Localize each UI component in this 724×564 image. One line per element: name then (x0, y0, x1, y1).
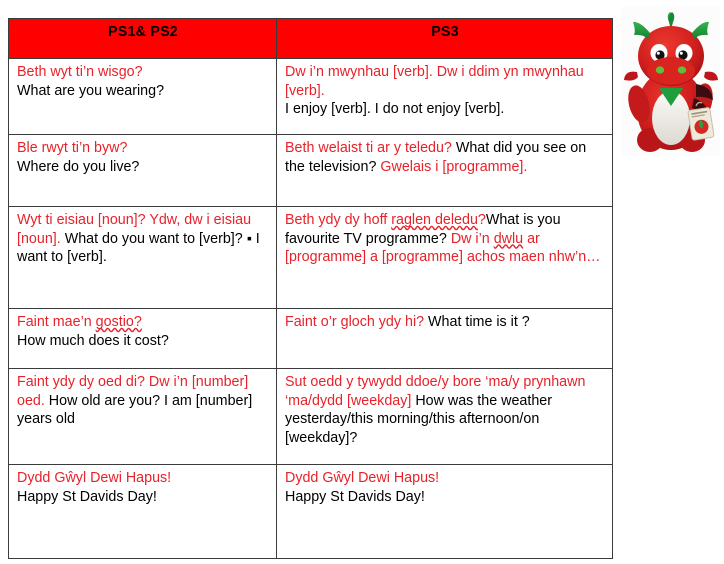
spellcheck-flagged-text: raglen deledu (391, 212, 478, 228)
welsh-phrase: Ble rwyt ti’n byw? (17, 139, 269, 158)
slide-canvas: PS1& PS2 PS3 Beth wyt ti’n wisgo? What a… (0, 0, 724, 564)
table-row: Faint ydy dy oed di? Dw i’n [number] oed… (9, 369, 613, 465)
phrase-cell-ps3-6: Dydd Gŵyl Dewi Hapus! Happy St Davids Da… (277, 465, 613, 559)
english-translation: What are you wearing? (17, 82, 269, 101)
welsh-phrases-table: PS1& PS2 PS3 Beth wyt ti’n wisgo? What a… (8, 18, 613, 559)
phrase-cell-ps1-4: Faint mae’n gostio? How much does it cos… (9, 309, 277, 369)
english-translation: I enjoy [verb]. I do not enjoy [verb]. (285, 100, 605, 119)
welsh-phrase-end: ? (478, 212, 486, 228)
english-translation: Happy St Davids Day! (17, 488, 269, 507)
phrase-cell-ps1-5: Faint ydy dy oed di? Dw i’n [number] oed… (9, 369, 277, 465)
phrase-cell-ps3-4: Faint o’r gloch ydy hi? What time is it … (277, 309, 613, 369)
phrase-cell-ps1-1: Beth wyt ti’n wisgo? What are you wearin… (9, 59, 277, 135)
welsh-phrase: Beth ydy dy hoff (285, 212, 391, 228)
english-translation: Happy St Davids Day! (285, 488, 605, 507)
phrase-cell-ps1-3: Wyt ti eisiau [noun]? Ydw, dw i eisiau [… (9, 207, 277, 309)
table-row: Ble rwyt ti’n byw? Where do you live? Be… (9, 135, 613, 207)
table-row: Beth wyt ti’n wisgo? What are you wearin… (9, 59, 613, 135)
spellcheck-flagged-text: dwlu (494, 231, 523, 247)
welsh-phrase: Beth wyt ti’n wisgo? (17, 63, 269, 82)
column-header-ps1-ps2: PS1& PS2 (9, 19, 277, 59)
table-header: PS1& PS2 PS3 (9, 19, 613, 59)
welsh-phrase: Faint o’r gloch ydy hi? (285, 314, 424, 330)
welsh-phrase: Beth welaist ti ar y teledu? (285, 140, 452, 156)
welsh-phrase: Dydd Gŵyl Dewi Hapus! (17, 469, 269, 488)
welsh-answer: Gwelais i [programme]. (380, 159, 527, 175)
table-body: Beth wyt ti’n wisgo? What are you wearin… (9, 59, 613, 559)
welsh-answer: Dw i’n (451, 231, 494, 247)
table-row: Faint mae’n gostio? How much does it cos… (9, 309, 613, 369)
welsh-phrase-line: Faint mae’n gostio? (17, 313, 269, 332)
phrase-cell-ps3-3: Beth ydy dy hoff raglen deledu?What is y… (277, 207, 613, 309)
table-row: Wyt ti eisiau [noun]? Ydw, dw i eisiau [… (9, 207, 613, 309)
english-translation: What time is it ? (424, 314, 530, 330)
welsh-phrase: Faint mae’n (17, 314, 96, 330)
welsh-phrase: Dw i’n mwynhau [verb]. Dw i ddim yn mwyn… (285, 63, 605, 100)
spellcheck-flagged-text: gostio? (96, 314, 142, 330)
english-translation: How old are you? I am [number] years old (17, 393, 252, 428)
column-header-ps3: PS3 (277, 19, 613, 59)
phrase-cell-ps3-2: Beth welaist ti ar y teledu? What did yo… (277, 135, 613, 207)
phrase-cell-ps3-5: Sut oedd y tywydd ddoe/y bore ‘ma/y pryn… (277, 369, 613, 465)
phrase-cell-ps3-1: Dw i’n mwynhau [verb]. Dw i ddim yn mwyn… (277, 59, 613, 135)
welsh-dragon-plush-image (622, 6, 720, 156)
table-row: Dydd Gŵyl Dewi Hapus! Happy St Davids Da… (9, 465, 613, 559)
phrase-cell-ps1-2: Ble rwyt ti’n byw? Where do you live? (9, 135, 277, 207)
phrase-cell-ps1-6: Dydd Gŵyl Dewi Hapus! Happy St Davids Da… (9, 465, 277, 559)
english-translation: How much does it cost? (17, 332, 269, 351)
english-translation: Where do you live? (17, 158, 269, 177)
welsh-phrase: Dydd Gŵyl Dewi Hapus! (285, 469, 605, 488)
header-row: PS1& PS2 PS3 (9, 19, 613, 59)
